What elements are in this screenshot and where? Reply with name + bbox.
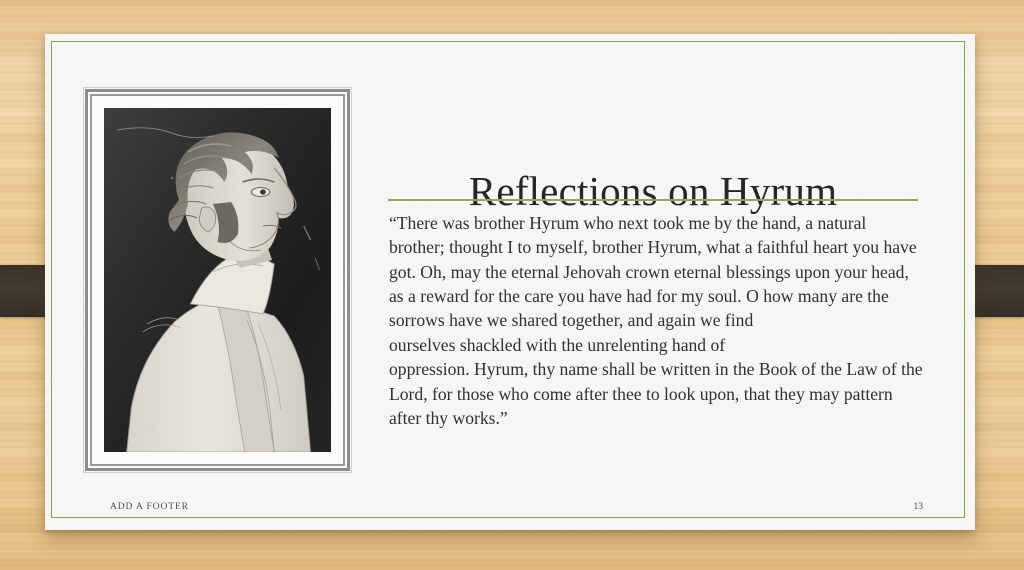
quote-body-text: “There was brother Hyrum who next took m… — [389, 211, 924, 430]
slide-footer-text: ADD A FOOTER — [110, 502, 189, 512]
slide-card: Reflections on Hyrum “There was brother … — [45, 34, 975, 530]
portrait-frame — [85, 89, 350, 471]
title-underline-rule — [388, 199, 918, 201]
presentation-stage: Reflections on Hyrum “There was brother … — [0, 0, 1024, 570]
portrait-illustration-svg — [104, 108, 331, 452]
portrait-image — [104, 108, 331, 452]
slide-page-number: 13 — [914, 502, 924, 512]
page-title: Reflections on Hyrum — [388, 169, 918, 215]
